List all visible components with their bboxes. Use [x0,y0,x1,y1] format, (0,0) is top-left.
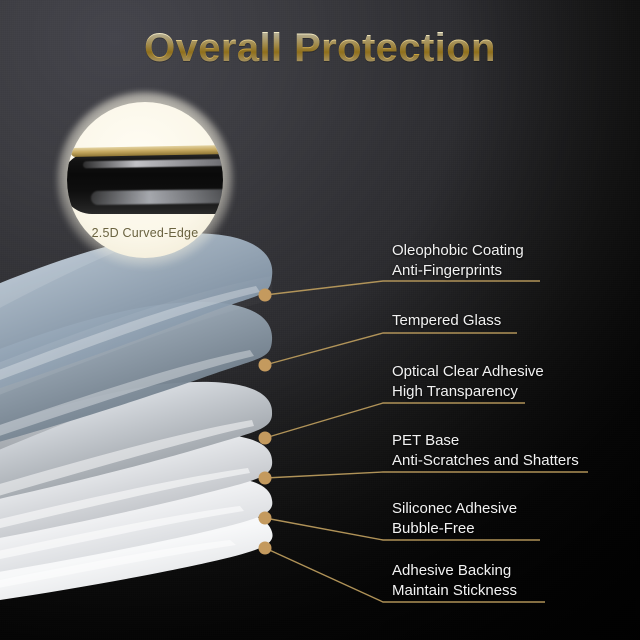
callout-label-adhesive-backing: Adhesive Backing Maintain Stickness [392,561,517,600]
callout-line-2: Anti-Scratches and Shatters [392,451,579,471]
callout-line-1: Optical Clear Adhesive [392,363,544,380]
inset-disc: 2.5D Curved-Edge [67,102,223,258]
callout-label-siliconec-adhesive: Siliconec Adhesive Bubble-Free [392,499,517,538]
callout-line-2: Bubble-Free [392,519,517,539]
callout-line-1: Oleophobic Coating [392,242,524,259]
inset-caption: 2.5D Curved-Edge [67,226,223,240]
callout-line-1: Siliconec Adhesive [392,500,517,517]
callout-line-2: High Transparency [392,382,544,402]
callout-line-1: PET Base [392,432,459,449]
callout-label-oleophobic-coating: Oleophobic Coating Anti-Fingerprints [392,241,524,280]
callout-line-2: Maintain Stickness [392,581,517,601]
callout-label-tempered-glass: Tempered Glass [392,311,501,331]
callout-line-1: Tempered Glass [392,312,501,329]
phone-edge-illustration [67,146,223,218]
product-infographic: Overall Protection 2.5D Curved-Edge [0,0,640,640]
callout-line-2: Anti-Fingerprints [392,261,524,281]
callout-label-pet-base: PET Base Anti-Scratches and Shatters [392,431,579,470]
phone-edge-highlight-inner [91,189,223,205]
callout-line-1: Adhesive Backing [392,562,511,579]
curved-edge-inset: 2.5D Curved-Edge [67,102,223,258]
callout-label-optical-clear-adhesive: Optical Clear Adhesive High Transparency [392,362,544,401]
page-title: Overall Protection [0,26,640,71]
layer-stack-illustration [0,0,640,640]
